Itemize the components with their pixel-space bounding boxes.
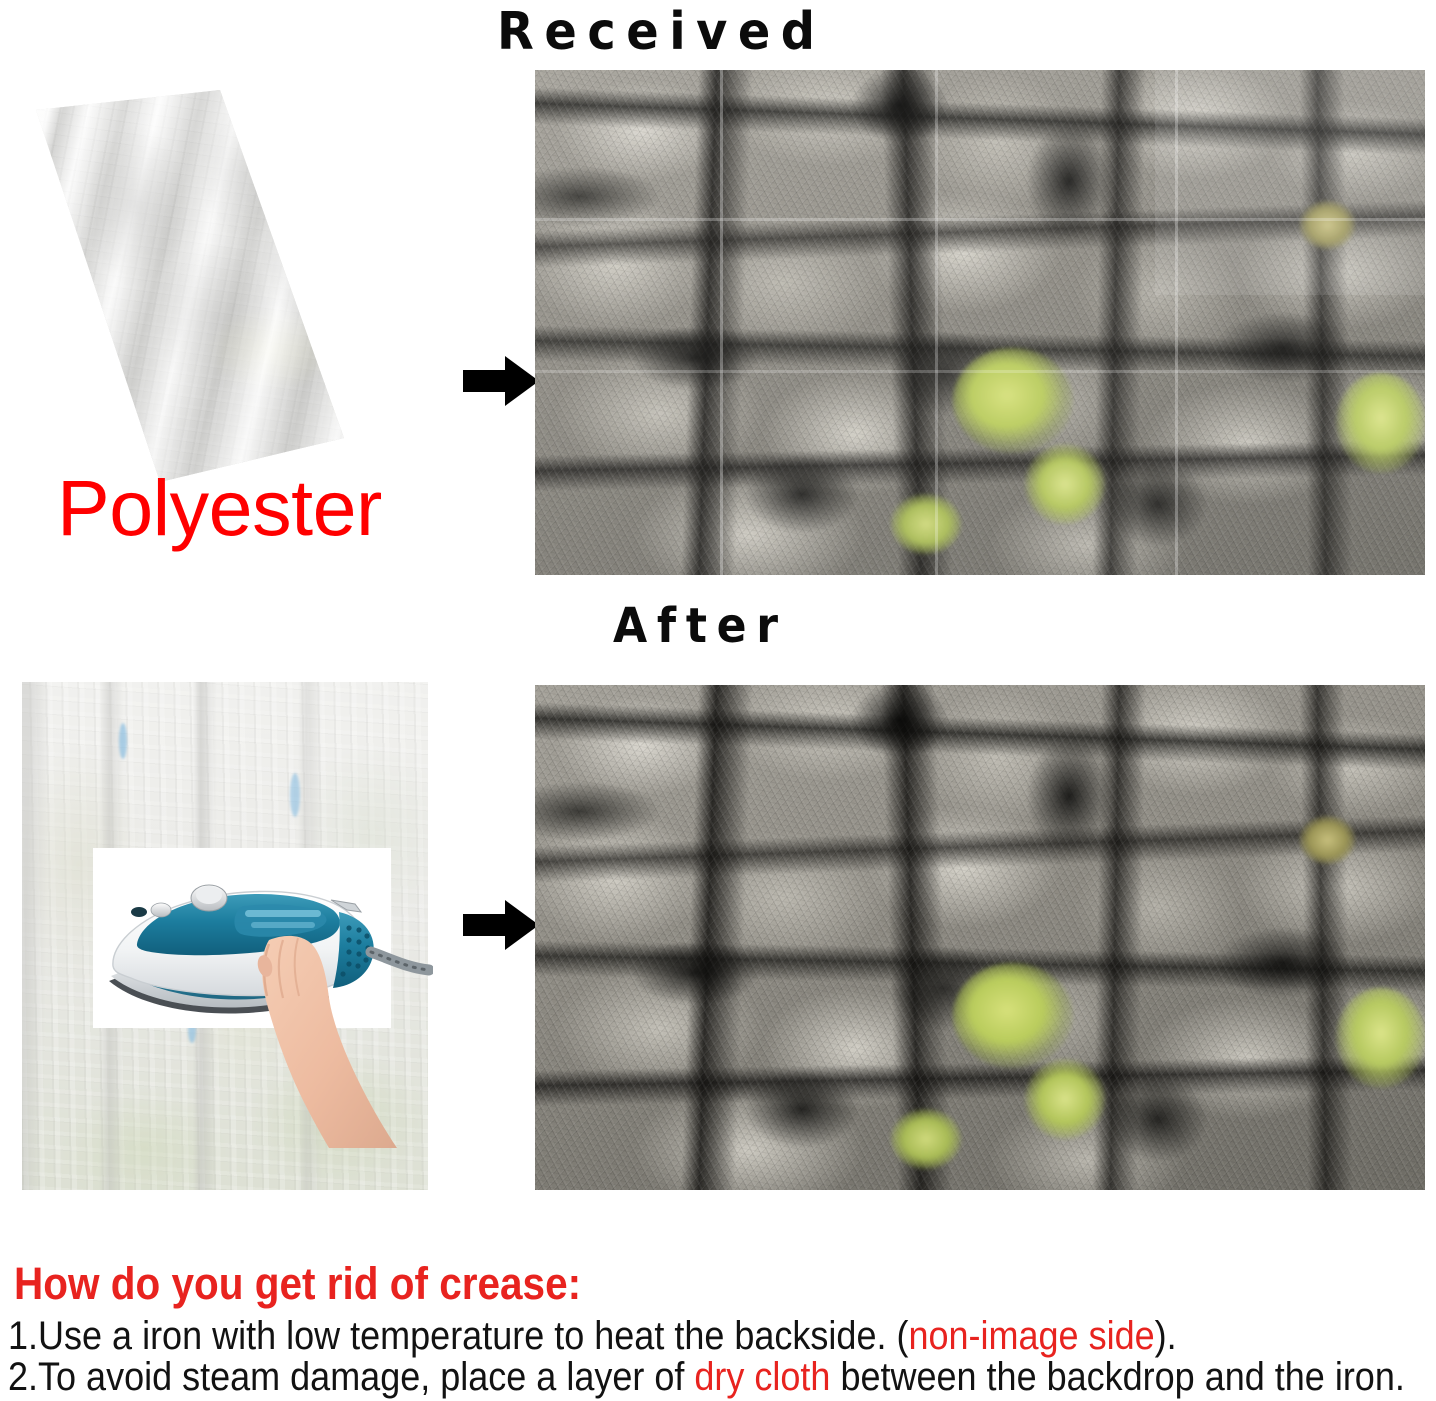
fabric-shape (24, 86, 424, 486)
iron-spray-button (151, 903, 171, 917)
moss-cluster (1025, 1059, 1105, 1139)
moss-cluster (891, 1109, 961, 1169)
instruction-1-highlight: non-image side (908, 1314, 1154, 1358)
iron-steam-vent (131, 907, 147, 917)
rock-wall-texture (535, 685, 1425, 1190)
instructions-heading: How do you get rid of crease: (14, 1258, 581, 1310)
instruction-2-prefix: 2.To avoid steam damage, place a layer o… (8, 1355, 694, 1399)
instruction-2-suffix: between the backdrop and the iron. (830, 1355, 1404, 1399)
polyester-label: Polyester (57, 462, 382, 554)
crease-overlay (535, 70, 1425, 575)
arrow-shaft (463, 370, 509, 392)
instruction-1-suffix: ). (1155, 1314, 1177, 1358)
arrow-head (505, 356, 539, 406)
after-title: After (613, 598, 788, 654)
moss-cluster (953, 963, 1073, 1068)
right-arrow-icon (463, 900, 541, 950)
arrow-head (505, 900, 539, 950)
right-arrow-icon (463, 356, 541, 406)
steam-iron-icon (93, 848, 433, 1148)
color-fleck (290, 773, 300, 817)
after-backdrop-photo (535, 685, 1425, 1190)
received-title: Received (497, 2, 826, 62)
polyester-fabric-swatch (24, 86, 424, 486)
arrow-shaft (463, 914, 509, 936)
instruction-line-1: 1.Use a iron with low temperature to hea… (8, 1314, 1177, 1359)
received-backdrop-photo (535, 70, 1425, 575)
iron-temperature-dial (191, 885, 227, 911)
instruction-2-highlight: dry cloth (694, 1355, 830, 1399)
moss-cluster (1336, 988, 1425, 1088)
instruction-1-prefix: 1.Use a iron with low temperature to hea… (8, 1314, 908, 1358)
instruction-line-2: 2.To avoid steam damage, place a layer o… (8, 1355, 1405, 1400)
